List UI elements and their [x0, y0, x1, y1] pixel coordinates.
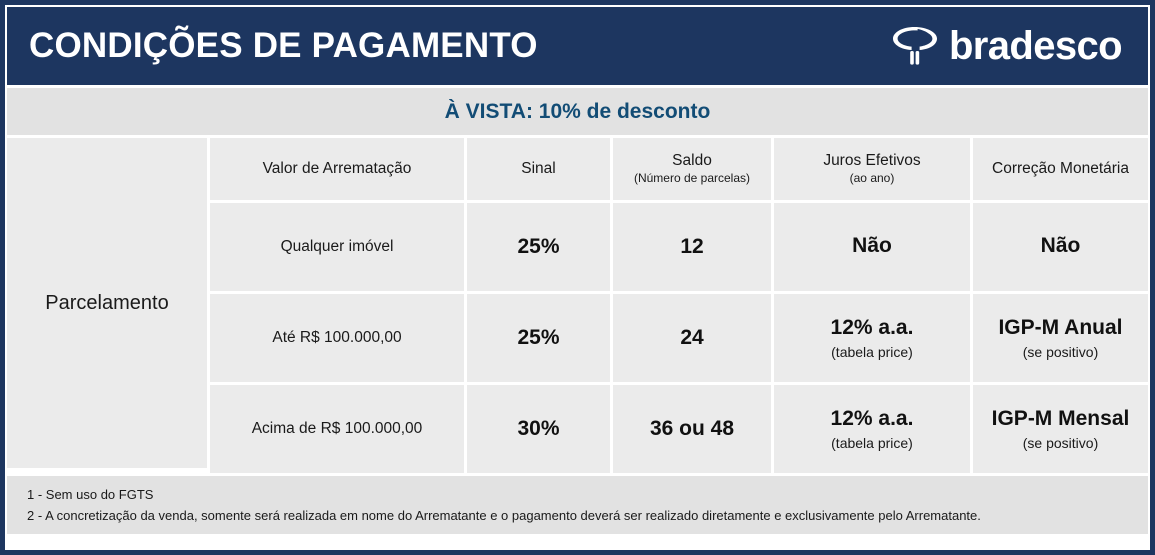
cell-saldo-text: 36 ou 48	[650, 416, 734, 441]
bradesco-tree-icon	[889, 22, 941, 70]
column-header-juros: Juros Efetivos (ao ano)	[774, 138, 970, 200]
cell-juros-text: 12% a.a.	[831, 315, 914, 340]
table-row: Até R$ 100.000,00 25% 24 12% a.a. (tabel…	[210, 294, 1148, 382]
header-bar: CONDIÇÕES DE PAGAMENTO bradesco	[7, 7, 1148, 85]
cell-sinal-text: 25%	[517, 234, 559, 259]
cell-juros-text: Não	[852, 233, 892, 258]
column-header-sinal: Sinal	[467, 138, 610, 200]
cell-juros-note: (tabela price)	[831, 343, 913, 361]
cash-discount-band: À VISTA: 10% de desconto	[7, 88, 1148, 135]
cell-saldo-text: 12	[680, 234, 703, 259]
column-header-saldo: Saldo (Número de parcelas)	[613, 138, 771, 200]
column-header-juros-label: Juros Efetivos	[823, 152, 920, 171]
column-header-valor-label: Valor de Arrematação	[263, 160, 412, 179]
cell-juros-text: 12% a.a.	[831, 406, 914, 431]
cell-correcao-text: Não	[1041, 233, 1081, 258]
cell-saldo: 12	[613, 203, 771, 291]
cell-valor: Qualquer imóvel	[210, 203, 464, 291]
cell-valor-text: Até R$ 100.000,00	[272, 328, 401, 347]
footnote-1: 1 - Sem uso do FGTS	[27, 485, 1148, 506]
cell-sinal: 30%	[467, 385, 610, 473]
footnote-2: 2 - A concretização da venda, somente se…	[27, 506, 1148, 527]
cell-valor: Até R$ 100.000,00	[210, 294, 464, 382]
brand-wordmark: bradesco	[949, 26, 1122, 66]
cell-saldo-text: 24	[680, 325, 703, 350]
cell-saldo: 36 ou 48	[613, 385, 771, 473]
cell-correcao: IGP-M Anual (se positivo)	[973, 294, 1148, 382]
table-row: Acima de R$ 100.000,00 30% 36 ou 48 12% …	[210, 385, 1148, 473]
table-grid: Valor de Arrematação Sinal Saldo (Número…	[210, 138, 1148, 473]
cell-juros: Não	[774, 203, 970, 291]
table-row: Qualquer imóvel 25% 12 Não Não	[210, 203, 1148, 291]
page-title: CONDIÇÕES DE PAGAMENTO	[29, 26, 538, 66]
column-header-valor: Valor de Arrematação	[210, 138, 464, 200]
cell-juros-note: (tabela price)	[831, 434, 913, 452]
cell-correcao: IGP-M Mensal (se positivo)	[973, 385, 1148, 473]
row-group-label: Parcelamento	[45, 292, 168, 315]
cell-correcao-note: (se positivo)	[1023, 343, 1098, 361]
cell-sinal-text: 30%	[517, 416, 559, 441]
cash-discount-text: À VISTA: 10% de desconto	[445, 100, 711, 124]
cell-correcao-text: IGP-M Mensal	[992, 406, 1130, 431]
cell-correcao: Não	[973, 203, 1148, 291]
column-header-saldo-sublabel: (Número de parcelas)	[634, 171, 750, 186]
column-header-saldo-label: Saldo	[672, 152, 712, 171]
cell-valor: Acima de R$ 100.000,00	[210, 385, 464, 473]
footnotes-area: 1 - Sem uso do FGTS 2 - A concretização …	[7, 476, 1148, 534]
cell-sinal-text: 25%	[517, 325, 559, 350]
cell-juros: 12% a.a. (tabela price)	[774, 385, 970, 473]
column-header-correcao-label: Correção Monetária	[992, 160, 1129, 179]
column-header-correcao: Correção Monetária	[973, 138, 1148, 200]
cell-valor-text: Qualquer imóvel	[281, 237, 394, 256]
cell-sinal: 25%	[467, 203, 610, 291]
table-header-row: Valor de Arrematação Sinal Saldo (Número…	[210, 138, 1148, 200]
cell-correcao-note: (se positivo)	[1023, 434, 1098, 452]
bradesco-logo: bradesco	[889, 22, 1122, 70]
cell-juros: 12% a.a. (tabela price)	[774, 294, 970, 382]
row-group-label-cell: Parcelamento	[7, 138, 207, 468]
cell-saldo: 24	[613, 294, 771, 382]
column-header-sinal-label: Sinal	[521, 160, 555, 179]
cell-valor-text: Acima de R$ 100.000,00	[252, 419, 423, 438]
payment-conditions-card: CONDIÇÕES DE PAGAMENTO bradesco À VISTA:…	[0, 0, 1155, 555]
column-header-juros-sublabel: (ao ano)	[850, 171, 895, 186]
conditions-table: Parcelamento Valor de Arrematação Sinal …	[7, 138, 1148, 473]
cell-sinal: 25%	[467, 294, 610, 382]
cell-correcao-text: IGP-M Anual	[998, 315, 1122, 340]
